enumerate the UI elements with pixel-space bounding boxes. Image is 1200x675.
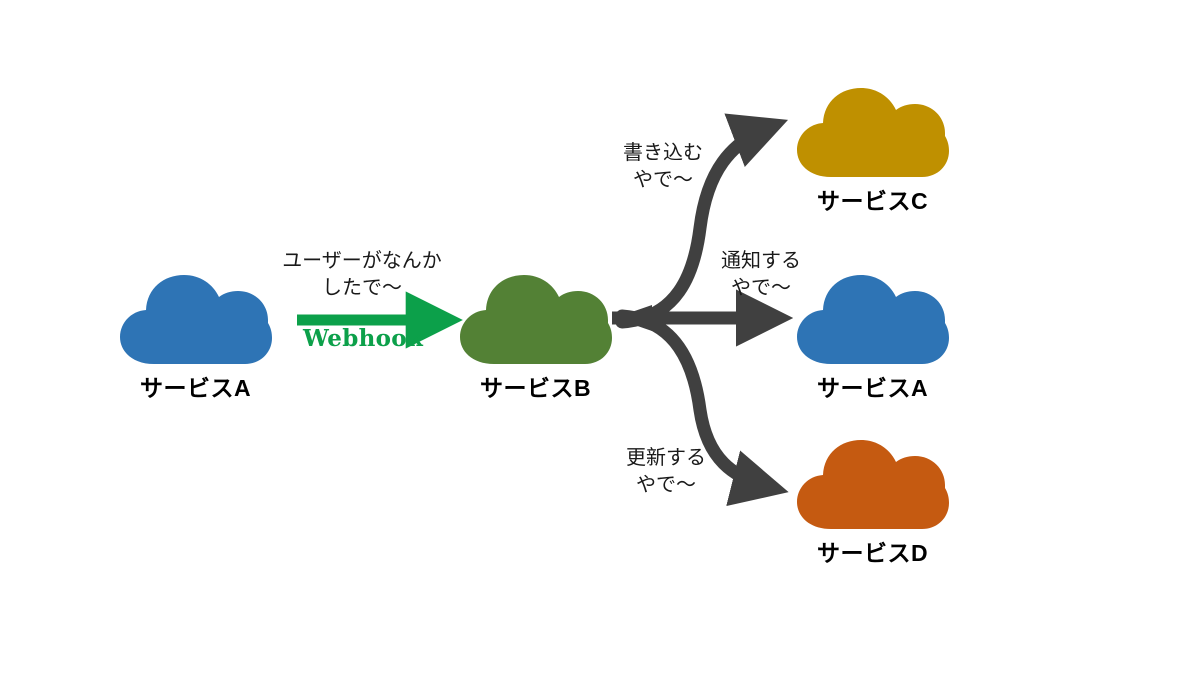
- node-label: サービスA: [795, 369, 950, 403]
- edge-fanout-trunk: [612, 305, 652, 331]
- edge-label-line2: したで〜: [267, 274, 457, 301]
- node-label: サービスD: [795, 534, 950, 568]
- edge-label-line2: やで〜: [608, 166, 718, 193]
- node-service-a-left[interactable]: サービスA: [118, 272, 273, 403]
- diagram-canvas: サービスA サービスB サービスC サービスA サービスD ユーザーがなんか し…: [0, 0, 1200, 675]
- node-label: サービスB: [458, 369, 613, 403]
- node-service-c[interactable]: サービスC: [795, 85, 950, 216]
- cloud-icon: [118, 272, 273, 367]
- node-service-d[interactable]: サービスD: [795, 437, 950, 568]
- edge-label-update: 更新する やで〜: [611, 444, 721, 498]
- cloud-icon: [795, 272, 950, 367]
- edge-label-line1: 更新する: [626, 445, 706, 469]
- edge-label-line1: 書き込む: [623, 140, 703, 164]
- cloud-icon: [795, 437, 950, 532]
- edge-label-notify: 通知する やで〜: [706, 247, 816, 301]
- cloud-icon: [458, 272, 613, 367]
- node-label: サービスC: [795, 182, 950, 216]
- edge-label-line1: ユーザーがなんか: [282, 248, 442, 272]
- node-label: サービスA: [118, 369, 273, 403]
- edge-label-webhook: ユーザーがなんか したで〜: [267, 247, 457, 301]
- node-service-a-right[interactable]: サービスA: [795, 272, 950, 403]
- edge-label-line1: 通知する: [721, 248, 801, 272]
- edge-label-line2: やで〜: [611, 471, 721, 498]
- edge-label-write: 書き込む やで〜: [608, 139, 718, 193]
- edge-label-line2: やで〜: [706, 274, 816, 301]
- cloud-icon: [795, 85, 950, 180]
- node-service-b[interactable]: サービスB: [458, 272, 613, 403]
- edge-inline-label-webhook: Webhook: [303, 325, 423, 352]
